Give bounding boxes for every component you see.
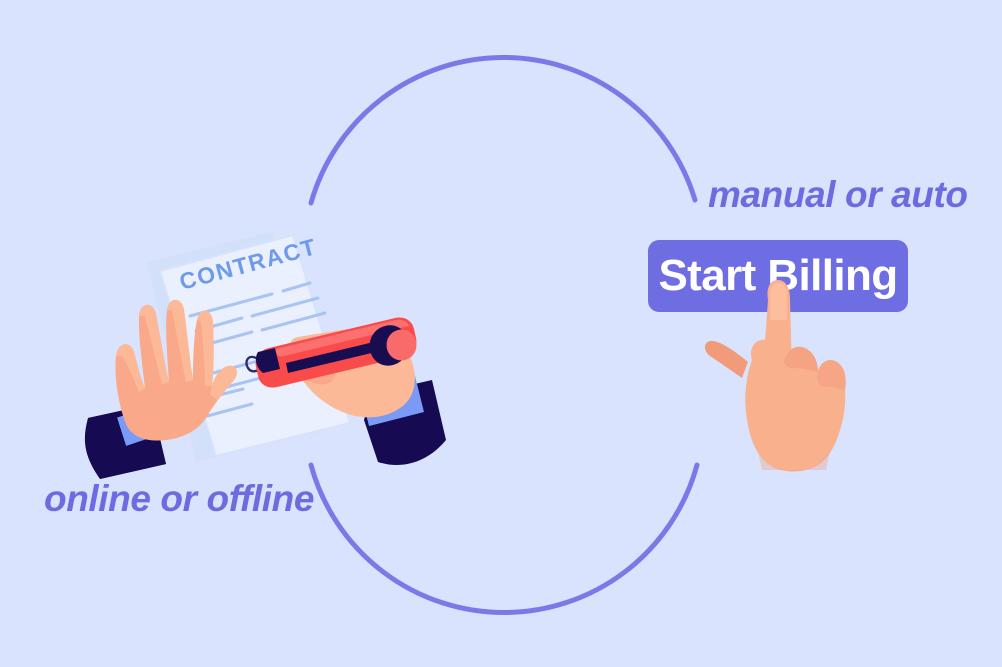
start-billing-button-label: Start Billing xyxy=(658,254,897,298)
illustration-scene: CONTRACT xyxy=(0,0,1002,667)
label-online-or-offline: online or offline xyxy=(44,480,314,517)
label-manual-or-auto: manual or auto xyxy=(708,176,968,213)
cuff-button xyxy=(149,440,156,447)
contract-signing-illustration: CONTRACT xyxy=(0,0,1002,667)
start-billing-button[interactable]: Start Billing xyxy=(648,240,908,312)
